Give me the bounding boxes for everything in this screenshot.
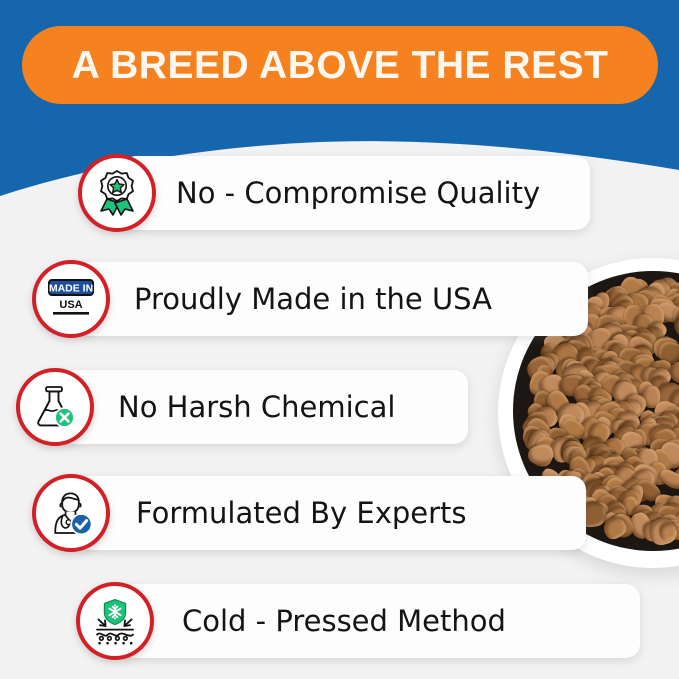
feature-label: Proudly Made in the USA <box>134 285 492 314</box>
svg-text:MADE IN: MADE IN <box>49 283 93 295</box>
feature-label: Cold - Pressed Method <box>182 607 506 636</box>
feature-label: No Harsh Chemical <box>118 393 395 422</box>
feature-row-no-harsh-chemical[interactable]: No Harsh Chemical <box>16 364 395 450</box>
svg-text:USA: USA <box>59 299 82 311</box>
cold-pressed-shield-icon <box>76 582 154 660</box>
award-rosette-icon <box>78 154 156 232</box>
feature-row-quality[interactable]: No - Compromise Quality <box>78 150 540 236</box>
expert-vet-verified-icon <box>32 474 110 552</box>
feature-row-made-in-usa[interactable]: MADE IN USA Proudly Made in the USA <box>32 256 492 342</box>
feature-label: No - Compromise Quality <box>176 179 540 208</box>
feature-list: No - Compromise Quality MADE IN USA Prou… <box>0 0 679 679</box>
promo-infographic: A BREED ABOVE THE REST No - Compromise Q… <box>0 0 679 679</box>
feature-label: Formulated By Experts <box>136 499 467 528</box>
feature-row-cold-pressed[interactable]: Cold - Pressed Method <box>76 578 506 664</box>
flask-no-chemicals-icon <box>16 368 94 446</box>
made-in-usa-icon: MADE IN USA <box>32 260 110 338</box>
feature-row-formulated-by-experts[interactable]: Formulated By Experts <box>32 470 467 556</box>
